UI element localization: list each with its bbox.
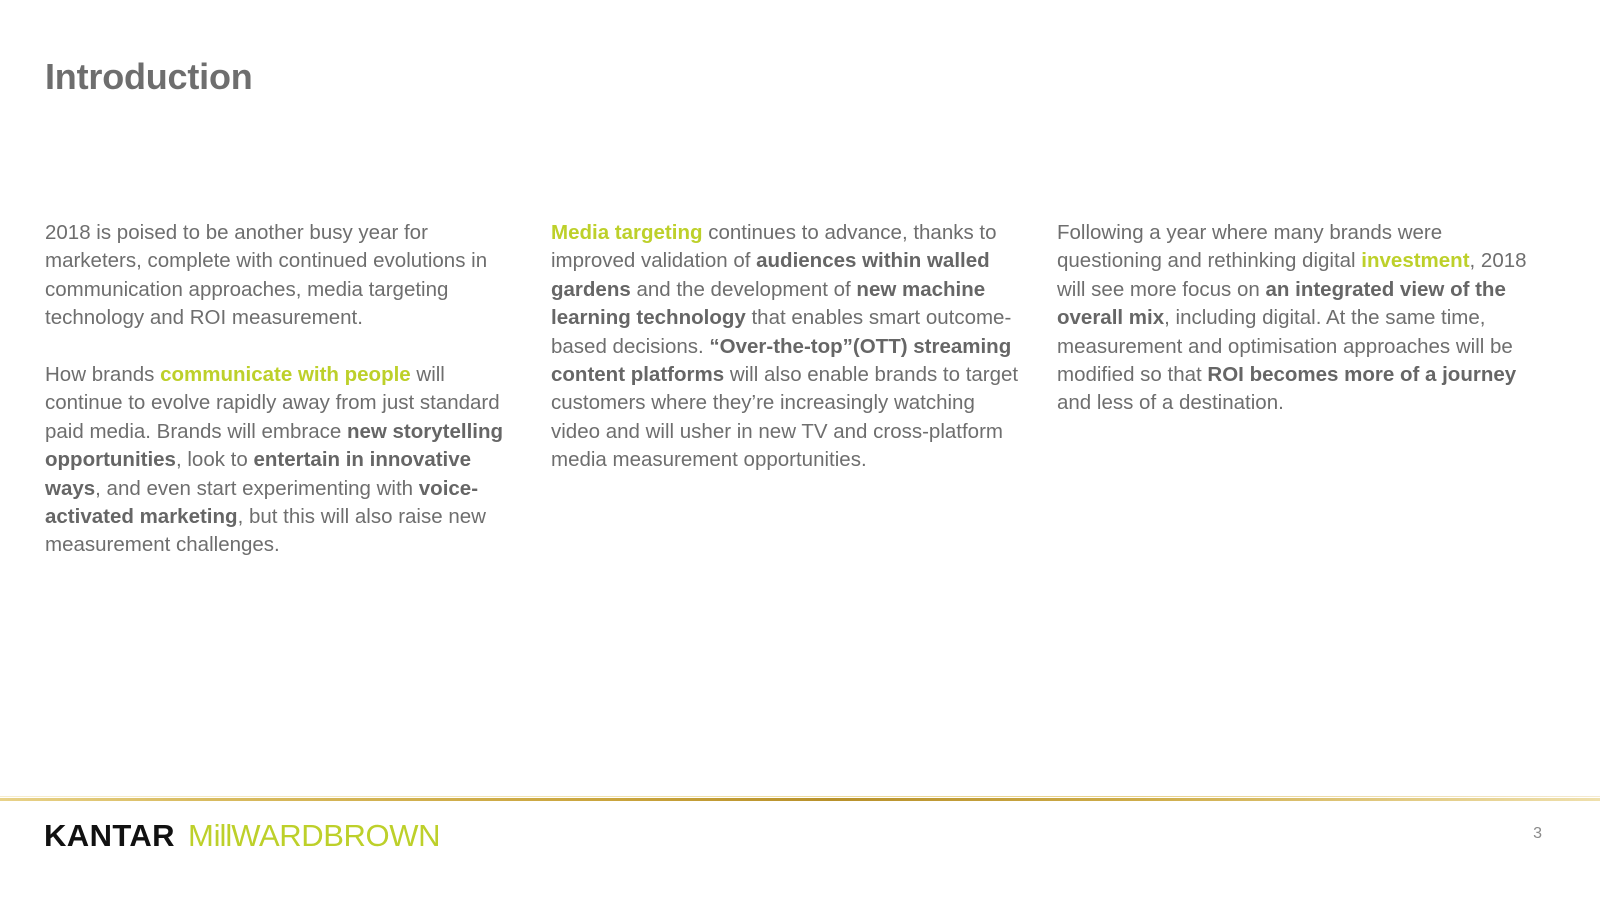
text-column-2: Media targeting continues to advance, th…	[551, 219, 1029, 475]
text-run: , look to	[176, 448, 254, 471]
paragraph: Following a year where many brands were …	[1057, 219, 1535, 418]
paragraph: How brands communicate with people will …	[45, 361, 523, 560]
text-column-1: 2018 is poised to be another busy year f…	[45, 219, 523, 560]
emphasis-accent: communicate with people	[160, 363, 411, 386]
emphasis-accent: investment	[1361, 249, 1469, 272]
logo-millward-rest: WARDBROWN	[231, 818, 440, 854]
logo-millward-m: M	[188, 818, 214, 854]
logo-millwardbrown: MillWARDBROWN	[188, 818, 440, 854]
text-run: How brands	[45, 363, 160, 386]
footer-divider	[0, 798, 1600, 801]
page-number: 3	[1533, 825, 1542, 843]
logo-kantar-text: KANTAR	[44, 818, 175, 854]
footer-divider-highlight	[0, 796, 1600, 797]
paragraph: Media targeting continues to advance, th…	[551, 219, 1029, 475]
emphasis-bold: ROI becomes more of a journey	[1207, 363, 1516, 386]
text-run: , and even start experimenting with	[95, 477, 419, 500]
paragraph: 2018 is poised to be another busy year f…	[45, 219, 523, 333]
slide-root: Introduction 2018 is poised to be anothe…	[0, 0, 1600, 900]
logo-millward-ill: ill	[214, 818, 232, 854]
emphasis-accent: Media targeting	[551, 221, 703, 244]
text-column-3: Following a year where many brands were …	[1057, 219, 1535, 418]
page-title: Introduction	[45, 55, 253, 98]
text-run: and the development of	[631, 278, 857, 301]
text-run: and less of a destination.	[1057, 391, 1284, 414]
brand-logo: KANTAR MillWARDBROWN	[44, 818, 440, 858]
content-columns: 2018 is poised to be another busy year f…	[45, 219, 1535, 560]
text-run: 2018 is poised to be another busy year f…	[45, 221, 487, 329]
